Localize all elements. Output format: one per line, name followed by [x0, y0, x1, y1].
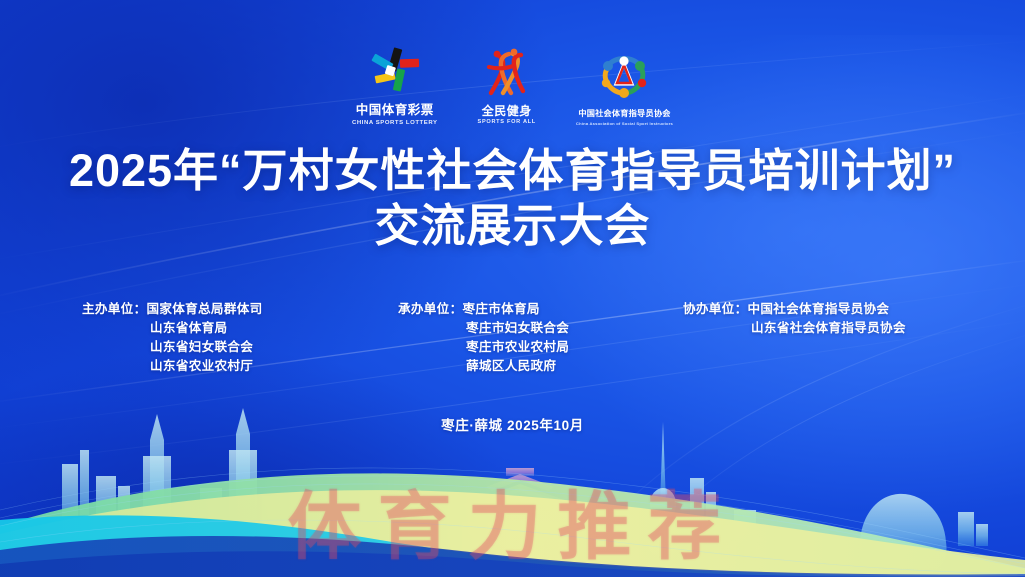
logo-label-en: CHINA SPORTS LOTTERY: [352, 120, 438, 126]
organizer-column-host: 主办单位：国家体育总局群体司 山东省体育局 山东省妇女联合会 山东省农业农村厅: [60, 300, 390, 376]
organizer-label: 承办单位：: [398, 302, 462, 316]
organizer-value: 枣庄市体育局: [462, 302, 539, 316]
event-banner: 中国体育彩票 CHINA SPORTS LOTTERY 全民健身: [0, 0, 1025, 577]
logo-label-en: China Association of Social Sport Instru…: [576, 122, 673, 126]
logo-sports-for-all: 全民健身 SPORTS FOR ALL: [478, 47, 536, 126]
organizer-label: 协办单位：: [683, 302, 747, 316]
organizer-line: 承办单位：枣庄市体育局: [398, 300, 665, 319]
organizer-value: 中国社会体育指导员协会: [747, 302, 889, 316]
sports-for-all-logo-icon: [481, 47, 533, 102]
organizer-line: 山东省妇女联合会: [82, 338, 390, 357]
organizer-line: 薛城区人民政府: [398, 357, 665, 376]
organizer-line: 山东省社会体育指导员协会: [683, 319, 965, 338]
organizer-column-supporter: 协办单位：中国社会体育指导员协会 山东省社会体育指导员协会: [665, 300, 965, 376]
banner-title: 2025年“万村女性社会体育指导员培训计划” 交流展示大会: [0, 144, 1025, 254]
organizer-line: 山东省农业农村厅: [82, 357, 390, 376]
organizer-line: 山东省体育局: [82, 319, 390, 338]
logo-label-cn: 全民健身: [482, 105, 532, 118]
logo-social-sport-instructors-association: 中国社会体育指导员协会 China Association of Social …: [576, 50, 673, 126]
china-sports-lottery-logo-icon: [367, 46, 423, 101]
organizer-line: 协办单位：中国社会体育指导员协会: [683, 300, 965, 319]
logo-label-cn: 中国社会体育指导员协会: [578, 110, 670, 119]
logo-china-sports-lottery: 中国体育彩票 CHINA SPORTS LOTTERY: [352, 46, 438, 126]
social-sport-instructors-association-logo-icon: [594, 50, 654, 107]
organizer-line: 主办单位：国家体育总局群体司: [82, 300, 390, 319]
title-line-2: 交流展示大会: [0, 199, 1025, 254]
logo-label-en: SPORTS FOR ALL: [478, 120, 536, 125]
organizer-columns: 主办单位：国家体育总局群体司 山东省体育局 山东省妇女联合会 山东省农业农村厅 …: [0, 300, 1025, 376]
organizer-line: 枣庄市妇女联合会: [398, 319, 665, 338]
logo-row: 中国体育彩票 CHINA SPORTS LOTTERY 全民健身: [0, 30, 1025, 126]
organizer-value: 国家体育总局群体司: [146, 302, 262, 316]
bottom-decorative-artwork: [0, 392, 1025, 577]
title-line-1: 2025年“万村女性社会体育指导员培训计划”: [0, 144, 1025, 199]
logo-label-cn: 中国体育彩票: [356, 104, 434, 117]
organizer-line: 枣庄市农业农村局: [398, 338, 665, 357]
organizer-column-coorganizer: 承办单位：枣庄市体育局 枣庄市妇女联合会 枣庄市农业农村局 薛城区人民政府: [390, 300, 665, 376]
organizer-label: 主办单位：: [82, 302, 146, 316]
